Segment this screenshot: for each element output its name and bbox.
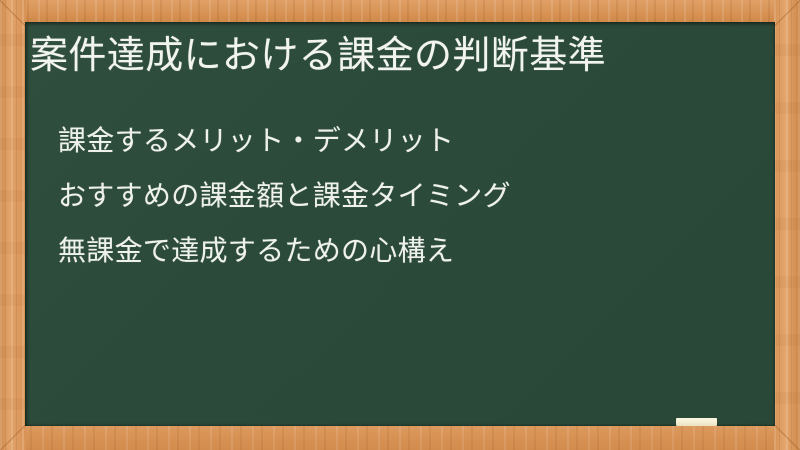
board-title: 案件達成における課金の判断基準 bbox=[30, 31, 606, 81]
blackboard-scene: 案件達成における課金の判断基準 課金するメリット・デメリット おすすめの課金額と… bbox=[0, 0, 800, 450]
chalk-stick-icon bbox=[676, 418, 717, 426]
wooden-frame-top bbox=[0, 0, 800, 24]
wooden-frame-right bbox=[774, 0, 800, 450]
board-topic-item-3: 無課金で達成するための心構え bbox=[58, 232, 511, 270]
board-topic-list: 課金するメリット・デメリット おすすめの課金額と課金タイミング 無課金で達成する… bbox=[58, 122, 511, 270]
board-topic-item-1: 課金するメリット・デメリット bbox=[58, 122, 511, 160]
chalkboard-content: 案件達成における課金の判断基準 課金するメリット・デメリット おすすめの課金額と… bbox=[25, 22, 775, 426]
wooden-frame-bottom bbox=[0, 426, 800, 450]
chalkboard-surface: 案件達成における課金の判断基準 課金するメリット・デメリット おすすめの課金額と… bbox=[25, 22, 775, 426]
board-topic-item-2: おすすめの課金額と課金タイミング bbox=[58, 177, 511, 215]
wooden-frame-left bbox=[0, 0, 26, 450]
